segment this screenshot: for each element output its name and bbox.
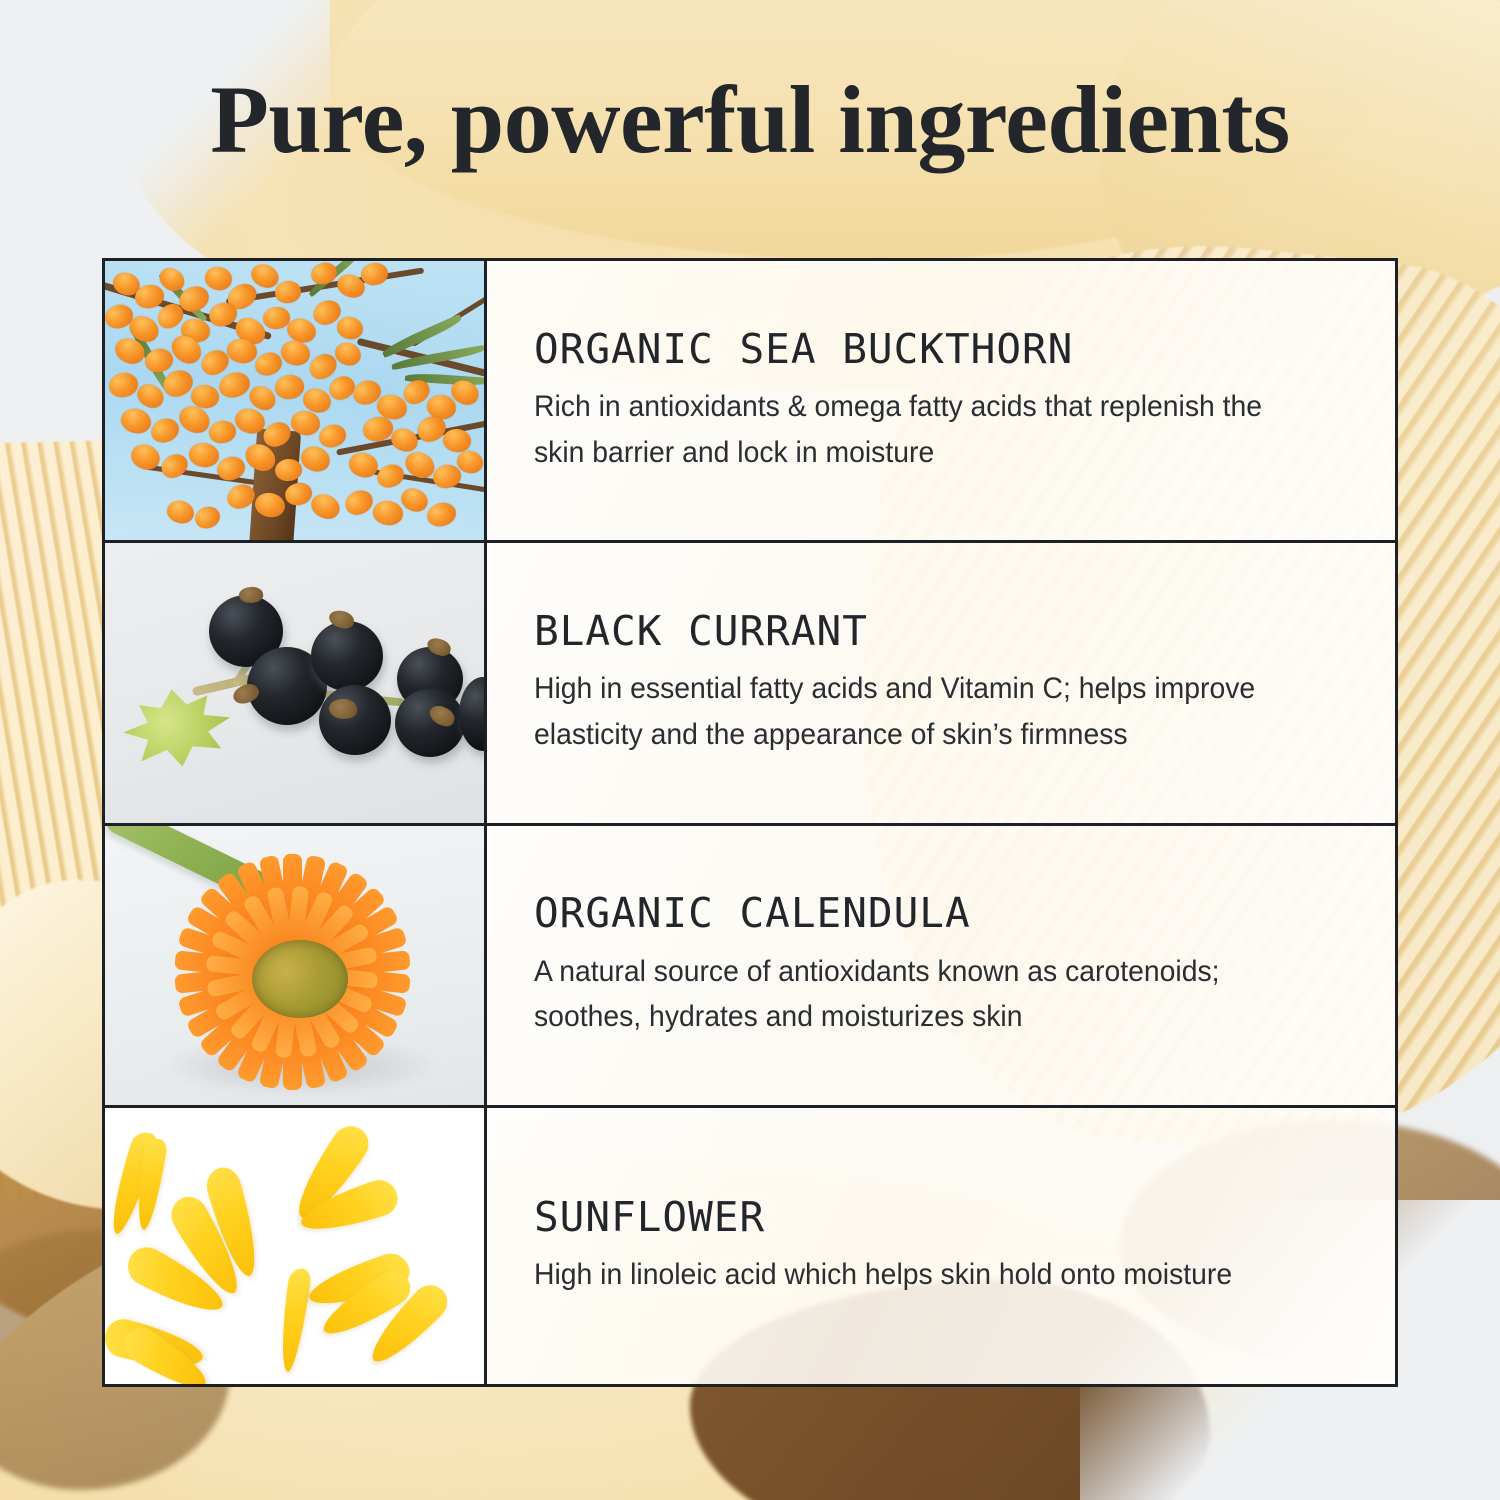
ingredient-description: A natural source of antioxidants known a… <box>534 949 1304 1040</box>
sunflower-petals-photo <box>105 1108 484 1384</box>
ingredient-description: High in essential fatty acids and Vitami… <box>534 666 1304 757</box>
ingredient-image-cell <box>105 1108 487 1384</box>
ingredient-name: ORGANIC SEA BUCKTHORN <box>534 326 1349 373</box>
ingredient-image-cell <box>105 826 487 1105</box>
ingredient-name: ORGANIC CALENDULA <box>534 890 1349 937</box>
calendula-bloom <box>167 854 417 1090</box>
black-currant-berries-photo <box>105 543 484 822</box>
ingredients-table: ORGANIC SEA BUCKTHORN Rich in antioxidan… <box>102 258 1398 1387</box>
ingredient-text-cell: ORGANIC SEA BUCKTHORN Rich in antioxidan… <box>487 261 1395 540</box>
table-row: BLACK CURRANT High in essential fatty ac… <box>105 543 1395 825</box>
ingredient-description: High in linoleic acid which helps skin h… <box>534 1252 1304 1298</box>
page-title: Pure, powerful ingredients <box>0 70 1500 171</box>
ingredient-text-cell: BLACK CURRANT High in essential fatty ac… <box>487 543 1395 822</box>
table-row: ORGANIC CALENDULA A natural source of an… <box>105 826 1395 1108</box>
calendula-flower-center <box>252 940 348 1018</box>
calendula-flower-photo <box>105 826 484 1105</box>
ingredient-name: BLACK CURRANT <box>534 608 1349 655</box>
ingredient-image-cell <box>105 261 487 540</box>
ingredient-text-cell: ORGANIC CALENDULA A natural source of an… <box>487 826 1395 1105</box>
ingredient-description: Rich in antioxidants & omega fatty acids… <box>534 384 1304 475</box>
sea-buckthorn-berries-photo <box>105 261 484 540</box>
ingredient-name: SUNFLOWER <box>534 1194 1349 1241</box>
ingredient-image-cell <box>105 543 487 822</box>
table-row: SUNFLOWER High in linoleic acid which he… <box>105 1108 1395 1384</box>
table-row: ORGANIC SEA BUCKTHORN Rich in antioxidan… <box>105 261 1395 543</box>
ingredient-text-cell: SUNFLOWER High in linoleic acid which he… <box>487 1108 1395 1384</box>
infographic-canvas: Pure, powerful ingredients <box>0 0 1500 1500</box>
